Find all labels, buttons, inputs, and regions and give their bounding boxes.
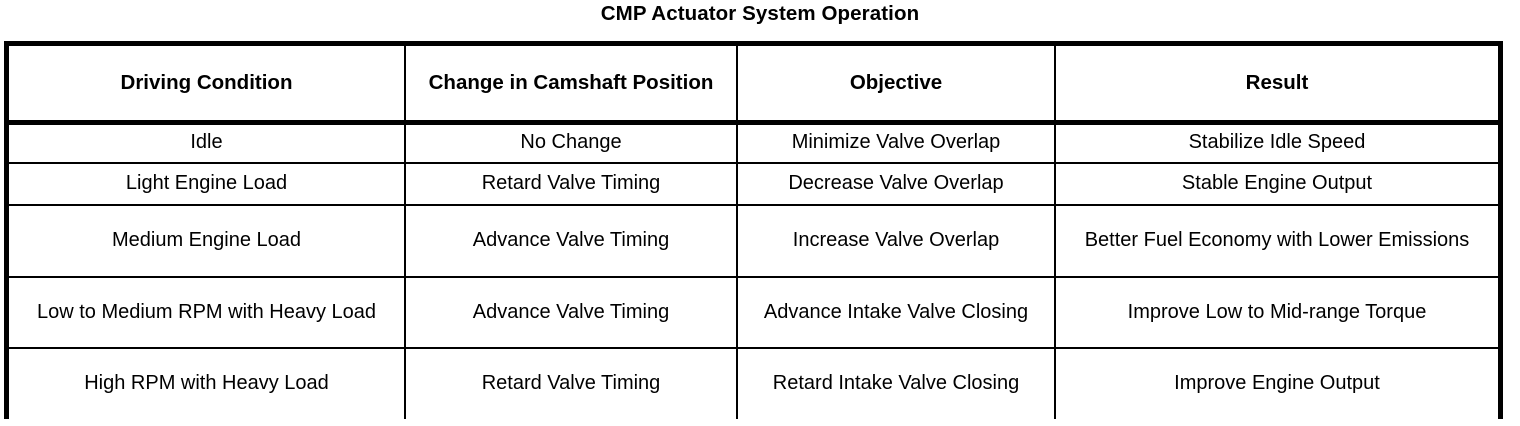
page-title: CMP Actuator System Operation: [0, 1, 1520, 27]
cell-driving-condition: High RPM with Heavy Load: [9, 348, 405, 419]
cell-objective: Advance Intake Valve Closing: [737, 277, 1055, 348]
cell-driving-condition: Low to Medium RPM with Heavy Load: [9, 277, 405, 348]
table-row: Idle No Change Minimize Valve Overlap St…: [9, 122, 1498, 163]
cell-objective: Increase Valve Overlap: [737, 205, 1055, 277]
cell-driving-condition: Medium Engine Load: [9, 205, 405, 277]
column-header-change-in-camshaft-position: Change in Camshaft Position: [405, 46, 737, 122]
table-row: Low to Medium RPM with Heavy Load Advanc…: [9, 277, 1498, 348]
cell-driving-condition: Light Engine Load: [9, 163, 405, 205]
table-row: Light Engine Load Retard Valve Timing De…: [9, 163, 1498, 205]
cell-change-in-camshaft-position: No Change: [405, 122, 737, 163]
cell-objective: Decrease Valve Overlap: [737, 163, 1055, 205]
cell-change-in-camshaft-position: Advance Valve Timing: [405, 205, 737, 277]
cell-change-in-camshaft-position: Retard Valve Timing: [405, 163, 737, 205]
cmp-actuator-table-container: Driving Condition Change in Camshaft Pos…: [4, 41, 1503, 419]
column-header-result: Result: [1055, 46, 1498, 122]
cell-result: Improve Engine Output: [1055, 348, 1498, 419]
cell-result: Improve Low to Mid-range Torque: [1055, 277, 1498, 348]
table-header-row: Driving Condition Change in Camshaft Pos…: [9, 46, 1498, 122]
cell-driving-condition: Idle: [9, 122, 405, 163]
cell-change-in-camshaft-position: Advance Valve Timing: [405, 277, 737, 348]
cmp-actuator-table: Driving Condition Change in Camshaft Pos…: [9, 46, 1498, 419]
cell-result: Better Fuel Economy with Lower Emissions: [1055, 205, 1498, 277]
page-root: CMP Actuator System Operation Driving Co…: [0, 0, 1520, 426]
column-header-driving-condition: Driving Condition: [9, 46, 405, 122]
cell-objective: Retard Intake Valve Closing: [737, 348, 1055, 419]
cell-result: Stable Engine Output: [1055, 163, 1498, 205]
table-row: High RPM with Heavy Load Retard Valve Ti…: [9, 348, 1498, 419]
table-body: Idle No Change Minimize Valve Overlap St…: [9, 122, 1498, 419]
table-row: Medium Engine Load Advance Valve Timing …: [9, 205, 1498, 277]
cell-result: Stabilize Idle Speed: [1055, 122, 1498, 163]
column-header-objective: Objective: [737, 46, 1055, 122]
cell-change-in-camshaft-position: Retard Valve Timing: [405, 348, 737, 419]
cell-objective: Minimize Valve Overlap: [737, 122, 1055, 163]
table-header: Driving Condition Change in Camshaft Pos…: [9, 46, 1498, 122]
